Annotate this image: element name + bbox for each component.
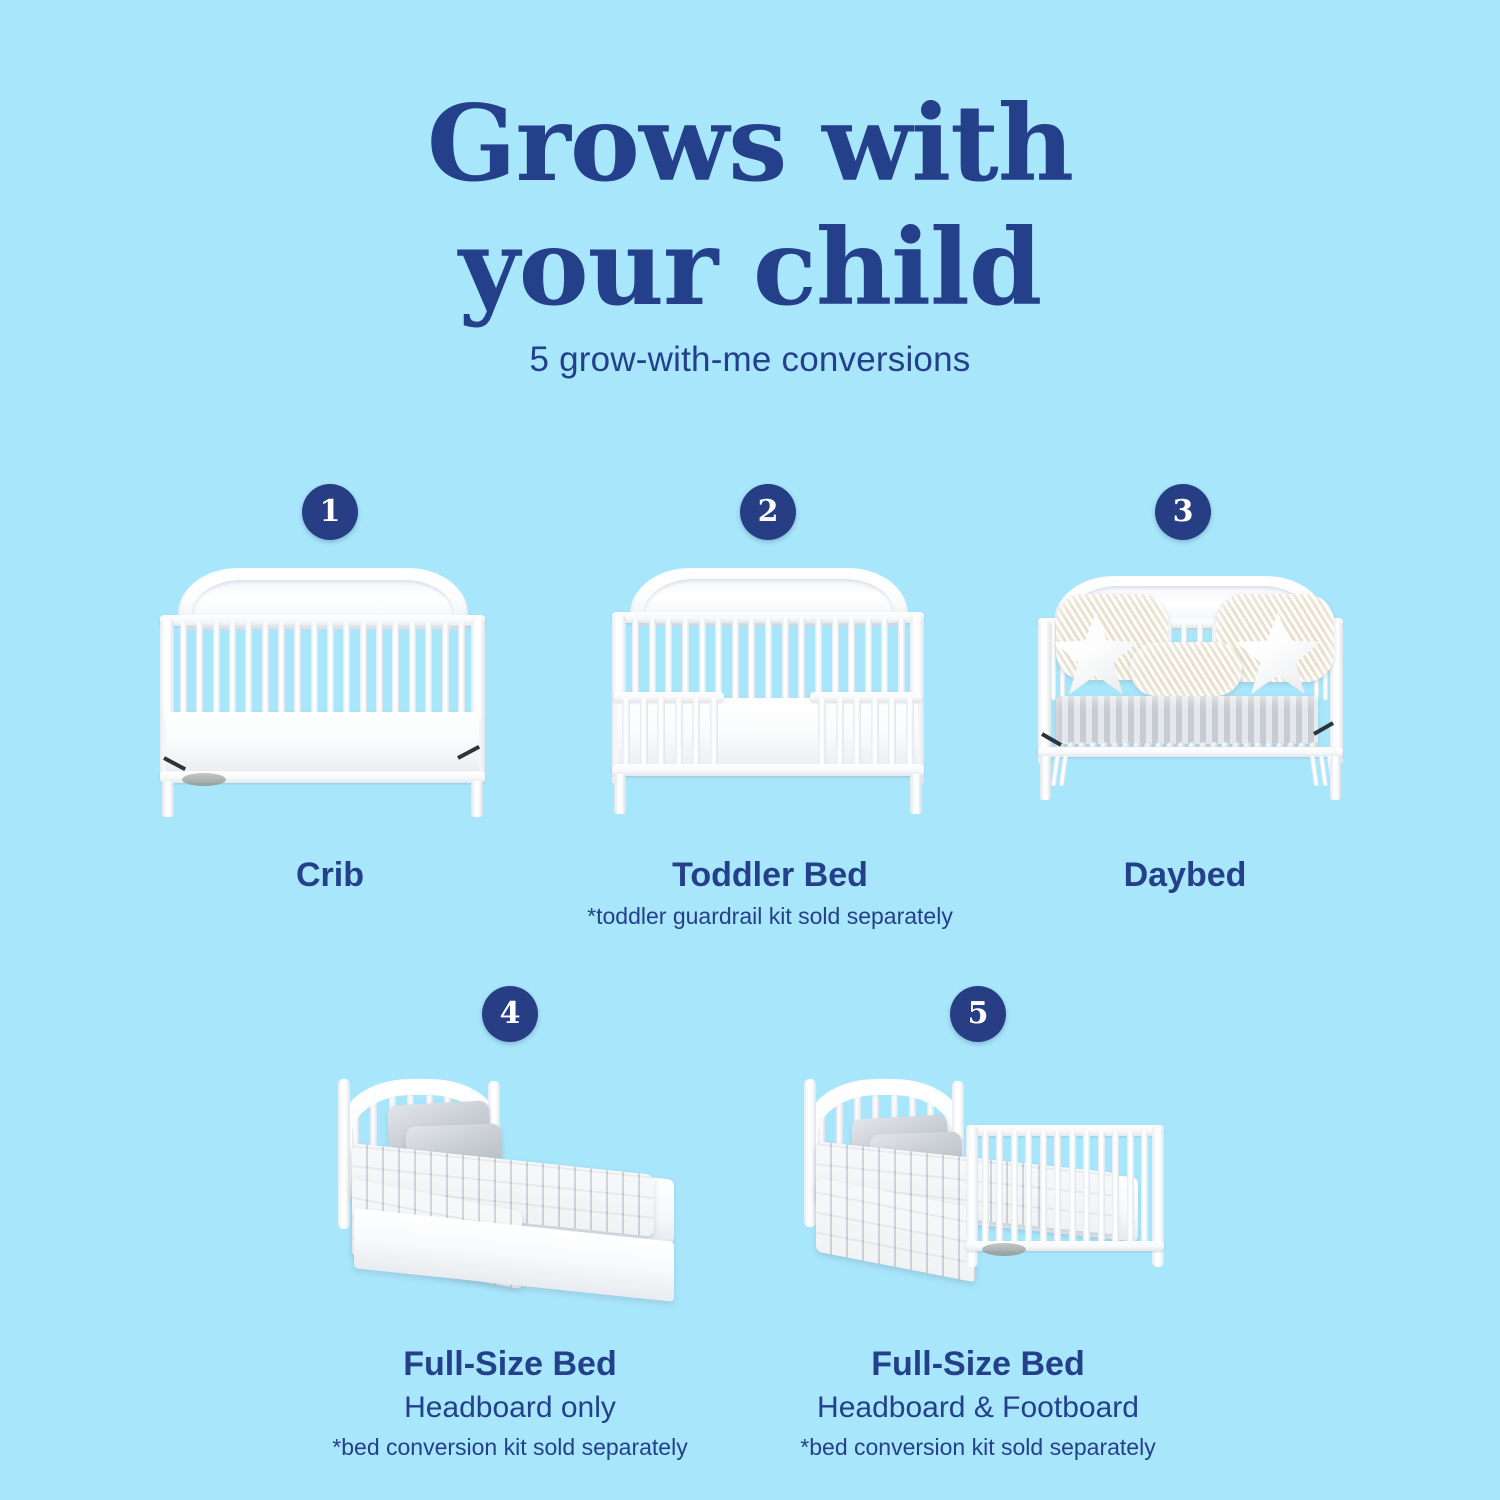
product-image-full-bed-headboard xyxy=(318,1075,708,1300)
page-subtitle: 5 grow-with-me conversions xyxy=(0,340,1500,380)
caption-subtitle-full-bed-headboard: Headboard only xyxy=(310,1390,710,1426)
caption-note-full-bed-headboard-footboard: *bed conversion kit sold separately xyxy=(778,1434,1178,1462)
caption-note-toddler-bed: *toddler guardrail kit sold separately xyxy=(575,903,965,931)
brand-logo-icon xyxy=(182,773,226,786)
crib-mattress xyxy=(166,712,479,775)
crib-leg-left xyxy=(162,781,174,817)
toddler-bottom-rail xyxy=(612,764,924,776)
step-badge-1: 1 xyxy=(302,484,358,540)
caption-title-toddler-bed: Toddler Bed xyxy=(575,856,965,895)
pillow-fluffy-center xyxy=(1130,642,1242,696)
product-image-crib xyxy=(140,560,505,820)
toddler-back-slats xyxy=(632,618,905,700)
toddler-guardrail-left-slats xyxy=(622,698,718,766)
caption-full-bed-headboard-footboard: Full-Size Bed Headboard & Footboard *bed… xyxy=(778,1345,1178,1462)
toddler-leg-left xyxy=(614,774,626,814)
infographic-canvas: Grows with your child 5 grow-with-me con… xyxy=(0,0,1500,1500)
caption-title-full-bed-headboard-footboard: Full-Size Bed xyxy=(778,1345,1178,1384)
caption-toddler-bed: Toddler Bed *toddler guardrail kit sold … xyxy=(575,856,965,931)
caption-note-full-bed-headboard: *bed conversion kit sold separately xyxy=(310,1434,710,1462)
caption-crib: Crib xyxy=(155,856,505,895)
step-badge-2: 2 xyxy=(740,484,796,540)
daybed-leg-right xyxy=(1330,756,1341,800)
caption-title-daybed: Daybed xyxy=(1010,856,1360,895)
toddler-leg-right xyxy=(910,774,922,814)
page-title-line-2: your child xyxy=(0,206,1500,330)
caption-daybed: Daybed xyxy=(1010,856,1360,895)
crib-leg-right xyxy=(471,781,483,817)
step-badge-5: 5 xyxy=(950,986,1006,1042)
page-title: Grows with your child xyxy=(0,82,1500,330)
product-image-toddler-bed xyxy=(592,560,942,820)
daybed-bottom-rail xyxy=(1038,747,1343,757)
product-image-full-bed-headboard-footboard xyxy=(786,1075,1176,1300)
full-bed2-headboard-post-left xyxy=(804,1079,816,1227)
step-badge-3: 3 xyxy=(1155,484,1211,540)
full-bed-headboard-post-left xyxy=(338,1079,350,1229)
caption-title-full-bed-headboard: Full-Size Bed xyxy=(310,1345,710,1384)
step-badge-4: 4 xyxy=(482,986,538,1042)
daybed-post-left xyxy=(1038,620,1051,765)
toddler-guardrail-right-slats xyxy=(818,698,914,766)
page-title-line-1: Grows with xyxy=(427,81,1073,205)
caption-full-bed-headboard: Full-Size Bed Headboard only *bed conver… xyxy=(310,1345,710,1462)
caption-subtitle-full-bed-headboard-footboard: Headboard & Footboard xyxy=(778,1390,1178,1426)
daybed-bedding xyxy=(1056,696,1318,744)
caption-title-crib: Crib xyxy=(155,856,505,895)
product-image-daybed xyxy=(1018,570,1358,830)
daybed-leg-left xyxy=(1040,756,1051,800)
full-bed2-footboard-slats xyxy=(982,1131,1148,1245)
brand-logo-icon-2 xyxy=(982,1243,1026,1256)
